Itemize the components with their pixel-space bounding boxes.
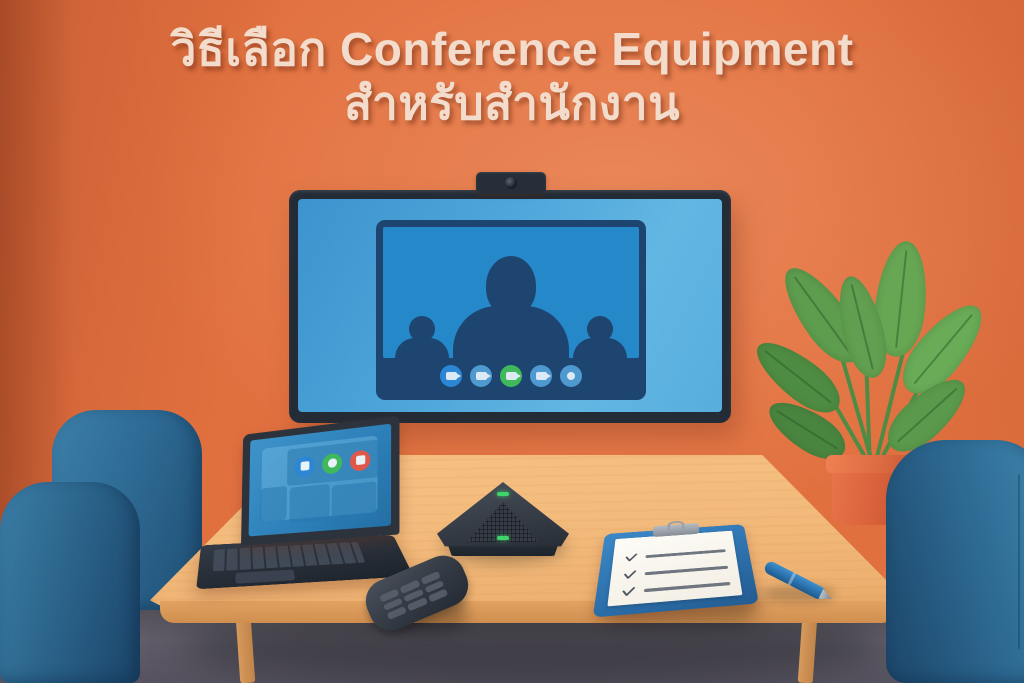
phone-glyph (328, 458, 337, 468)
chair-seam (1018, 474, 1020, 649)
share-glyph (506, 372, 517, 380)
checklist-row-2 (623, 562, 729, 581)
check-icon (621, 586, 636, 598)
check-icon (623, 569, 637, 580)
webcam-lens-icon (505, 177, 517, 189)
chair-front-left (0, 482, 140, 683)
table-leg-right (798, 617, 818, 683)
checklist-line (645, 566, 728, 575)
video-call-panel (376, 220, 646, 400)
chat-icon[interactable] (530, 365, 552, 387)
clipboard-paper (607, 531, 742, 607)
main-speaker-silhouette (453, 256, 569, 358)
participant-left-silhouette (395, 316, 449, 358)
conference-webcam (476, 172, 546, 194)
end-call-glyph (356, 455, 365, 465)
thumbs-up-icon[interactable] (295, 455, 315, 477)
chair-backrest (0, 482, 140, 683)
clipboard (600, 512, 760, 630)
clipboard-board (593, 524, 759, 617)
laptop-screen (249, 424, 392, 537)
mic-glyph (476, 372, 487, 380)
chat-glyph (536, 372, 547, 380)
status-led-bottom (497, 536, 509, 540)
pen (762, 570, 836, 610)
video-feed (383, 227, 639, 358)
mic-icon[interactable] (470, 365, 492, 387)
laptop-keyboard[interactable] (213, 542, 366, 572)
scene-root: วิธีเลือก Conference Equipment สำหรับสำน… (0, 0, 1024, 683)
laptop-avatar-tile (260, 486, 288, 522)
tv-screen (298, 199, 722, 412)
chair-right (886, 440, 1024, 683)
conference-speakerphone (437, 478, 569, 564)
remote-control (365, 565, 475, 637)
laptop-lid (241, 415, 399, 545)
laptop-participant-tile-1 (290, 484, 330, 523)
video-call-toolbar (383, 359, 639, 393)
wall-mounted-display (289, 190, 731, 423)
thumb-glyph (300, 461, 309, 471)
accept-call-icon[interactable] (322, 452, 342, 474)
body-shape (395, 338, 449, 358)
body-shape (573, 338, 627, 358)
laptop-trackpad[interactable] (236, 570, 296, 584)
status-led-top (497, 492, 509, 496)
checklist-line (644, 582, 731, 592)
more-options-icon[interactable] (560, 365, 582, 387)
camera-glyph (446, 372, 457, 380)
dot-glyph (567, 372, 575, 380)
checklist-row-1 (624, 546, 726, 564)
share-screen-icon[interactable] (500, 365, 522, 387)
end-call-icon[interactable] (350, 449, 370, 471)
checklist-line (645, 549, 725, 558)
body-shape (453, 306, 569, 358)
participant-right-silhouette (573, 316, 627, 358)
checklist-row-3 (621, 578, 731, 598)
camera-icon[interactable] (440, 365, 462, 387)
laptop-participant-tile-2 (332, 482, 376, 522)
pen-ring (788, 572, 797, 585)
check-icon (624, 553, 638, 563)
chair-backrest (886, 440, 1024, 683)
